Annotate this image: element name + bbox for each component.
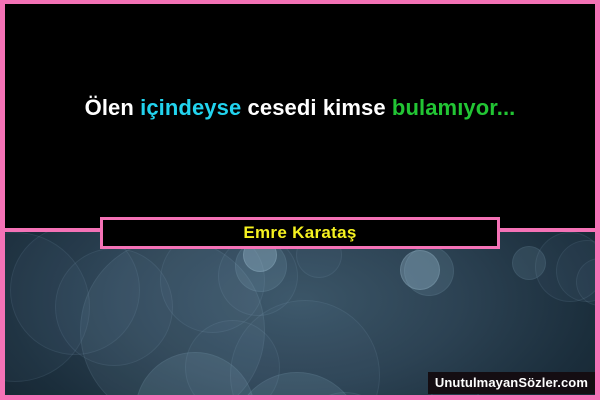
bokeh-circle (404, 246, 454, 296)
author-name: Emre Karataş (243, 223, 356, 243)
quote-segment-2: cesedi kimse (241, 95, 392, 120)
quote-segment-1: içindeyse (140, 95, 241, 120)
quote-panel: Ölen içindeyse cesedi kimse bulamıyor... (4, 4, 596, 232)
author-box: Emre Karataş (100, 217, 500, 249)
quote-segment-0: Ölen (85, 95, 141, 120)
quote-card: Ölen içindeyse cesedi kimse bulamıyor...… (0, 0, 600, 400)
quote-segment-3: bulamıyor... (392, 95, 515, 120)
quote-text: Ölen içindeyse cesedi kimse bulamıyor... (4, 93, 596, 123)
watermark: UnutulmayanSözler.com (428, 372, 595, 394)
